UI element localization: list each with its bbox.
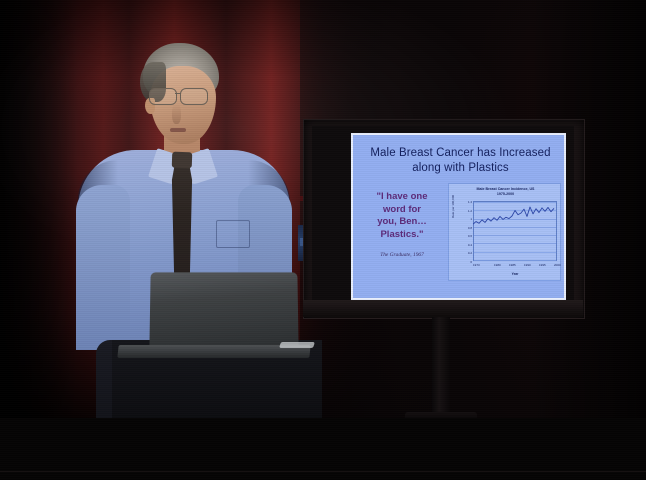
chart-x-axis-label: Year	[473, 272, 557, 276]
chart-y-tick: 0.4	[468, 244, 472, 247]
chart-y-tick: 0.2	[468, 252, 472, 255]
slide-chart: Male Breast Cancer Incidence, US 1975-20…	[448, 183, 561, 281]
chart-y-tick: 1.4	[468, 201, 472, 204]
slide-title-line-1: Male Breast Cancer has	[370, 147, 496, 159]
chart-y-tick-labels: 00.20.40.60.811.21.4	[461, 198, 472, 264]
chart-y-tick: 0.8	[468, 227, 472, 230]
speaker-mouth	[170, 128, 186, 132]
chart-x-tick: 1985	[509, 263, 516, 267]
monitor-lower-bezel	[303, 300, 583, 317]
eyeglass-lens-right	[180, 88, 208, 105]
chart-x-tick: 1995	[539, 263, 546, 267]
chart-subtitle: 1975-2000	[453, 192, 558, 197]
chart-y-tick: 1	[470, 218, 472, 221]
chart-x-tick: 2000	[554, 263, 561, 267]
eyeglasses-icon	[149, 88, 215, 104]
slide-quote-line-1: "I have one	[358, 191, 446, 204]
speaker-arm-left	[76, 185, 130, 350]
video-still-scene: Male Breast Cancer has Increased along w…	[0, 0, 646, 480]
chart-title: Male Breast Cancer Incidence, US 1975-20…	[453, 187, 558, 196]
presentation-slide: Male Breast Cancer has Increased along w…	[351, 133, 566, 300]
slide-quote-citation: The Graduate, 1967	[358, 252, 446, 258]
chart-y-axis-label: Rate per 100,000	[451, 178, 455, 218]
slide-quote-line-4: Plastics."	[358, 229, 446, 242]
shirt-pocket	[216, 220, 250, 248]
chart-x-tick-labels: 197319801985199019952000	[469, 263, 561, 271]
chart-x-tick: 1973	[473, 263, 480, 267]
chart-y-tick: 1.2	[468, 210, 472, 213]
speaker-nose	[172, 104, 181, 124]
floor-edge-line	[0, 471, 646, 472]
eyeglass-bridge	[175, 93, 181, 94]
monitor-stand-pole	[432, 317, 450, 417]
chart-x-tick: 1980	[494, 263, 501, 267]
slide-quote-line-3: you, Ben…	[358, 216, 446, 229]
chart-x-tick: 1990	[524, 263, 531, 267]
slide-quote-line-2: word for	[358, 204, 446, 217]
eyeglass-lens-left	[149, 88, 177, 105]
macbook-laptop[interactable]	[149, 272, 298, 350]
chart-data-line	[473, 201, 557, 261]
laptop-front-edge	[279, 342, 315, 348]
chart-y-tick: 0.6	[468, 235, 472, 238]
slide-quote: "I have one word for you, Ben… Plastics.…	[358, 191, 446, 241]
slide-title: Male Breast Cancer has Increased along w…	[361, 146, 560, 176]
necktie-knot	[172, 152, 193, 169]
